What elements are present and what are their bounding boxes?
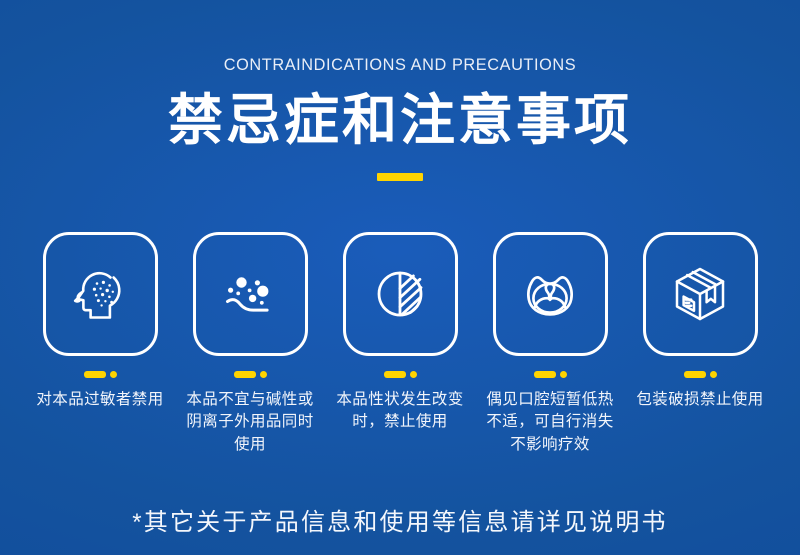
divider-dot bbox=[110, 371, 117, 378]
precaution-caption: 本品性状发生改变时，禁止使用 bbox=[335, 389, 465, 434]
divider-dot bbox=[710, 371, 717, 378]
caption-divider bbox=[84, 371, 117, 378]
footer-note: *其它关于产品信息和使用等信息请详见说明书 bbox=[0, 502, 800, 537]
icon-frame bbox=[343, 232, 458, 356]
bubbles-wave-icon bbox=[217, 261, 283, 327]
divider-dash bbox=[384, 371, 406, 378]
divider-dash bbox=[534, 371, 556, 378]
icon-frame bbox=[643, 232, 758, 356]
header: CONTRAINDICATIONS AND PRECAUTIONS 禁忌症和注意… bbox=[0, 0, 800, 181]
precaution-card: 包装破损禁止使用 bbox=[643, 232, 758, 456]
precaution-caption: 偶见口腔短暂低热不适，可自行消失不影响疗效 bbox=[485, 389, 615, 456]
icon-frame bbox=[193, 232, 308, 356]
subtitle-english: CONTRAINDICATIONS AND PRECAUTIONS bbox=[16, 56, 784, 73]
icon-frame bbox=[43, 232, 158, 356]
divider-dash bbox=[84, 371, 106, 378]
divider-dot bbox=[260, 371, 267, 378]
precaution-card: 偶见口腔短暂低热不适，可自行消失不影响疗效 bbox=[493, 232, 608, 456]
precaution-card-row: 对本品过敏者禁用 bbox=[0, 232, 800, 456]
precaution-caption: 对本品过敏者禁用 bbox=[35, 389, 165, 411]
divider-dot bbox=[560, 371, 567, 378]
tablet-pill-icon bbox=[367, 261, 433, 327]
precaution-caption: 包装破损禁止使用 bbox=[635, 389, 765, 411]
poster-root: CONTRAINDICATIONS AND PRECAUTIONS 禁忌症和注意… bbox=[0, 0, 800, 555]
head-allergy-icon bbox=[67, 261, 133, 327]
mouth-throat-icon bbox=[517, 261, 583, 327]
precaution-caption: 本品不宜与碱性或阴离子外用品同时使用 bbox=[185, 389, 315, 456]
icon-frame bbox=[493, 232, 608, 356]
precaution-card: 对本品过敏者禁用 bbox=[43, 232, 158, 456]
caption-divider bbox=[534, 371, 567, 378]
caption-divider bbox=[234, 371, 267, 378]
precaution-card: 本品不宜与碱性或阴离子外用品同时使用 bbox=[193, 232, 308, 456]
divider-dash bbox=[234, 371, 256, 378]
caption-divider bbox=[684, 371, 717, 378]
page-title: 禁忌症和注意事项 bbox=[0, 90, 800, 152]
caption-divider bbox=[384, 371, 417, 378]
precaution-card: 本品性状发生改变时，禁止使用 bbox=[343, 232, 458, 456]
title-divider bbox=[377, 173, 423, 181]
divider-dash bbox=[684, 371, 706, 378]
package-box-icon bbox=[667, 261, 733, 327]
divider-dot bbox=[410, 371, 417, 378]
